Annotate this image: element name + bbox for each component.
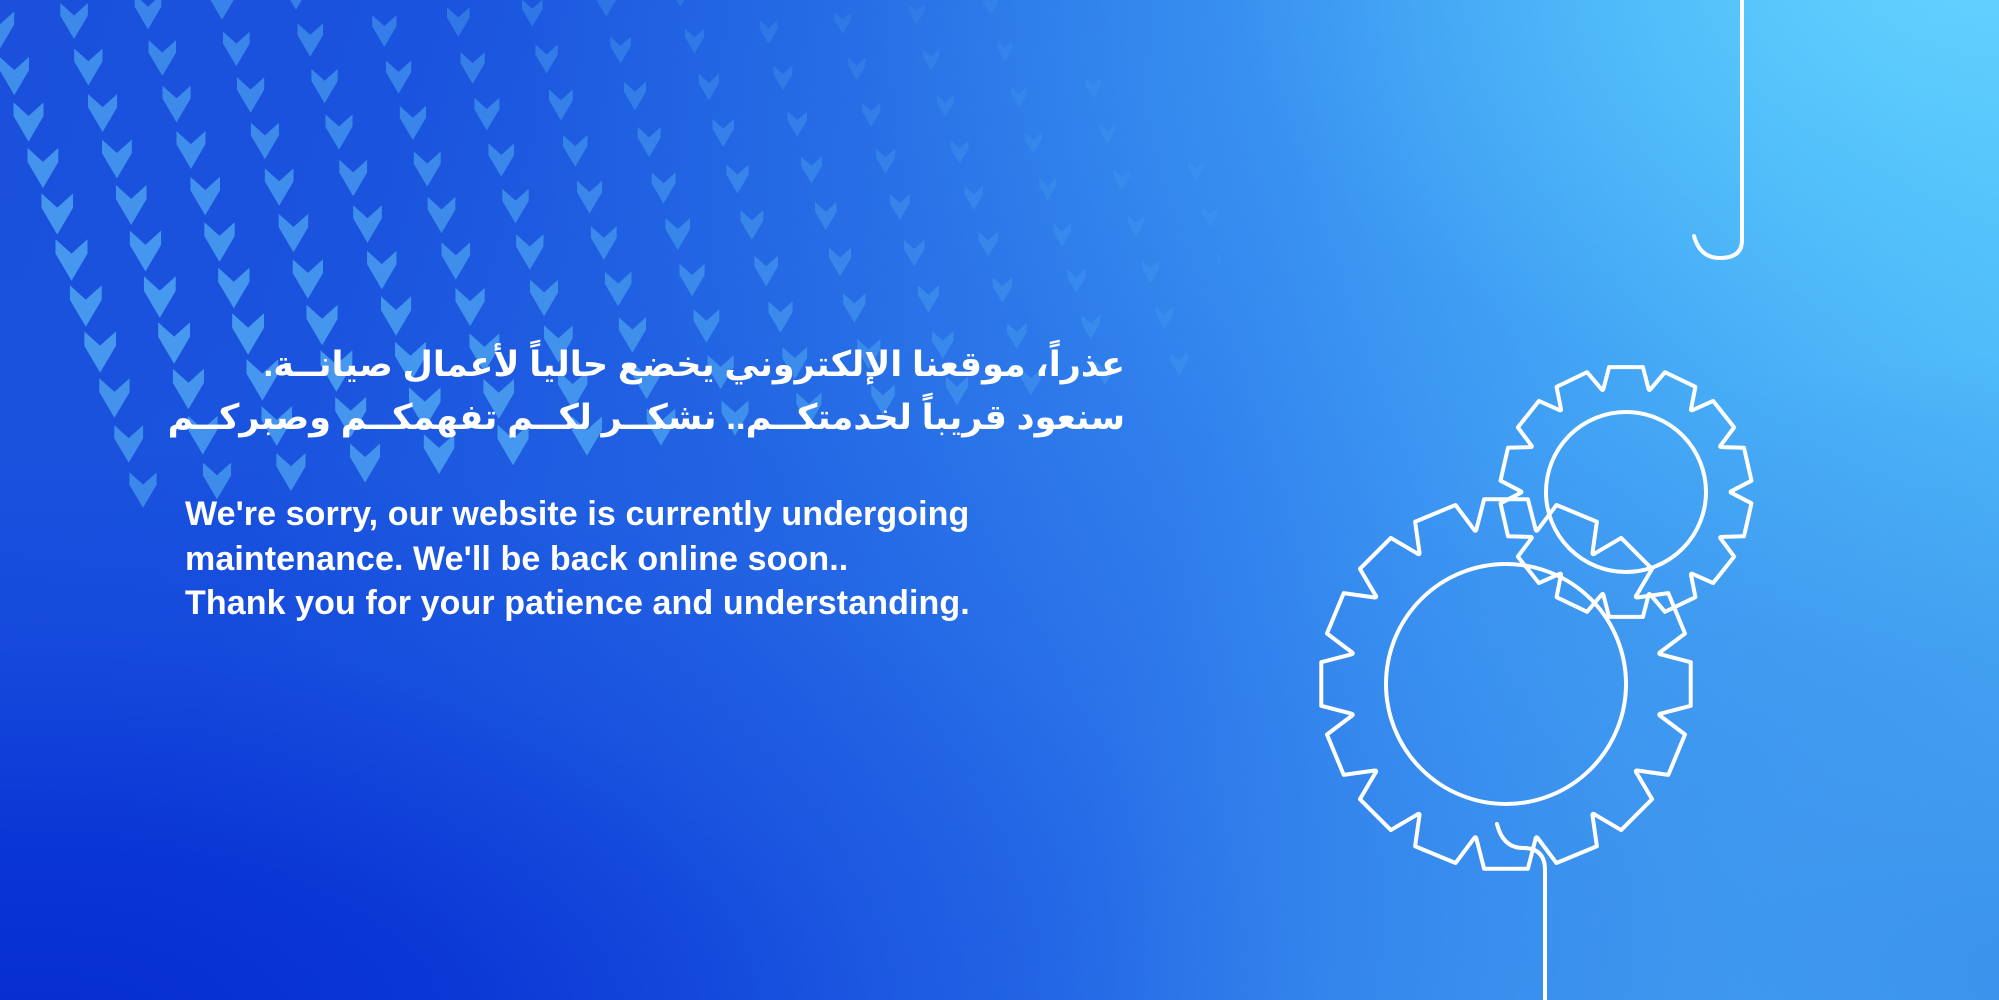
english-message: We're sorry, our website is currently un…: [185, 492, 1185, 625]
maintenance-page: عذراً، موقعنا الإلكتروني يخضع حالياً لأع…: [0, 0, 1999, 1000]
english-line-3: Thank you for your patience and understa…: [185, 581, 1185, 625]
english-line-2: maintenance. We'll be back online soon..: [185, 537, 1185, 581]
arabic-line-1: عذراً، موقعنا الإلكتروني يخضع حالياً لأع…: [185, 338, 1125, 391]
english-line-1: We're sorry, our website is currently un…: [185, 492, 1185, 536]
arabic-message: عذراً، موقعنا الإلكتروني يخضع حالياً لأع…: [0, 338, 1125, 444]
arabic-line-2: سنعود قريباً لخدمتكــم.. نشكــر لكــم تف…: [185, 391, 1125, 444]
message-block: عذراً، موقعنا الإلكتروني يخضع حالياً لأع…: [185, 338, 1185, 625]
